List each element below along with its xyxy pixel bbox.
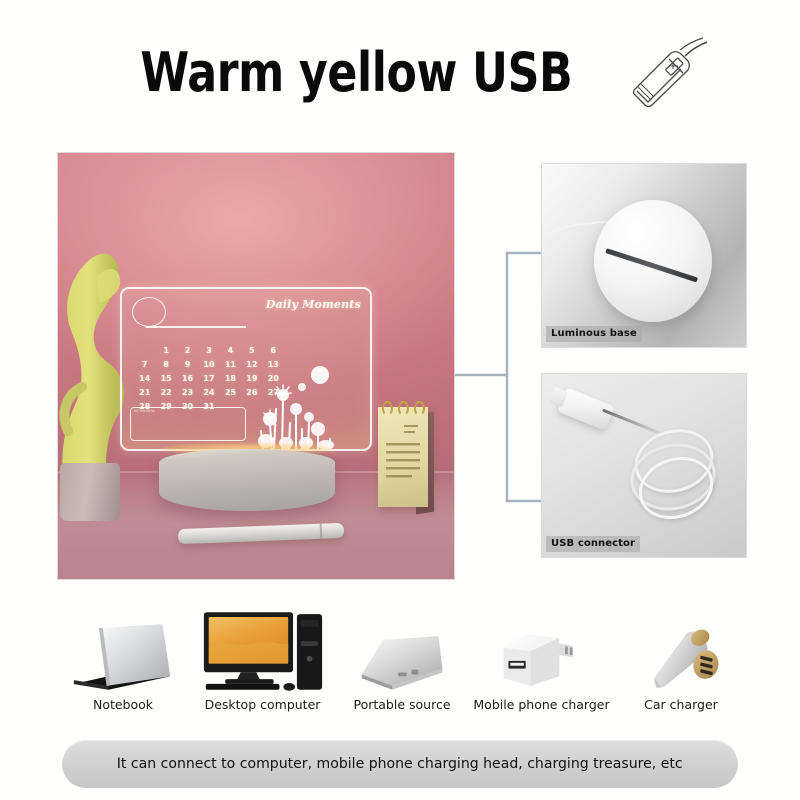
calendar-day: 1 [155, 345, 176, 356]
calendar-day: 23 [177, 387, 198, 398]
device-label: Car charger [644, 697, 718, 712]
board-circle-mark [132, 297, 166, 327]
bracket-connector-lines [455, 163, 545, 583]
calendar-day: 11 [220, 359, 241, 370]
device-item-notebook: Notebook [57, 604, 189, 712]
device-item-car-charger: Car charger [615, 604, 747, 712]
calendar-day: 18 [220, 373, 241, 384]
page-title: Warm yellow USB [140, 46, 572, 100]
desk-calendar-text-lines [378, 407, 428, 507]
panel-usb-connector: USB connector [541, 373, 747, 558]
dandelion-engraving [252, 357, 348, 449]
device-item-desktop-computer: Desktop computer [197, 604, 329, 712]
calendar-day: 7 [134, 359, 155, 370]
car-charger-icon [635, 604, 727, 692]
footer-caption-text: It can connect to computer, mobile phone… [117, 756, 683, 772]
usb-plug-icon [621, 37, 707, 109]
calendar-day: 25 [220, 387, 241, 398]
cactus-pot [60, 463, 120, 521]
calendar-day: 6 [263, 345, 284, 356]
device-label: Portable source [353, 697, 450, 712]
device-label: Notebook [93, 697, 153, 712]
luminous-base-disc [594, 200, 712, 322]
product-marketing-page: Warm yellow USB [0, 0, 800, 800]
hero-product-photo: Daily Moments 1 2 3 4 5 6 7 8 9 10 11 12… [57, 152, 455, 580]
device-item-portable-source: Portable source [336, 604, 468, 712]
panel-label-luminous-base: Luminous base [546, 326, 642, 342]
board-note-tab-label: for monthly [134, 409, 155, 413]
calendar-day: 21 [134, 387, 155, 398]
calendar-day: 4 [220, 345, 241, 356]
panel-label-usb-connector: USB connector [546, 536, 640, 552]
board-brand-text: Daily Moments [266, 298, 361, 311]
device-label: Desktop computer [205, 697, 321, 712]
calendar-day: 3 [198, 345, 219, 356]
board-rule-line [146, 326, 246, 328]
device-item-mobile-phone-charger: Mobile phone charger [476, 604, 608, 712]
device-label: Mobile phone charger [473, 697, 609, 712]
compatible-devices-row: Notebook [57, 592, 747, 712]
calendar-day: 17 [198, 373, 219, 384]
calendar-day: 16 [177, 373, 198, 384]
lamp-base-stand [159, 449, 335, 511]
base-acrylic-slot [605, 248, 698, 282]
calendar-day: 22 [155, 387, 176, 398]
calendar-day: 5 [241, 345, 262, 356]
calendar-day: 2 [177, 345, 198, 356]
calendar-day: 10 [198, 359, 219, 370]
footer-caption-pill: It can connect to computer, mobile phone… [62, 740, 738, 788]
board-note-box: for monthly [130, 407, 246, 441]
page-title-row: Warm yellow USB [0, 34, 800, 112]
desktop-computer-icon [200, 604, 326, 692]
panel-luminous-base: Luminous base [541, 163, 747, 348]
power-bank-icon [354, 604, 450, 692]
calendar-day: 14 [134, 373, 155, 384]
calendar-day: 9 [177, 359, 198, 370]
wall-charger-icon [496, 604, 588, 692]
calendar-day: 24 [198, 387, 219, 398]
acrylic-calendar-board: Daily Moments 1 2 3 4 5 6 7 8 9 10 11 12… [120, 287, 372, 451]
notebook-icon [70, 604, 176, 692]
calendar-day: 15 [155, 373, 176, 384]
desk-calendar-prop [378, 395, 436, 513]
calendar-day: 8 [155, 359, 176, 370]
